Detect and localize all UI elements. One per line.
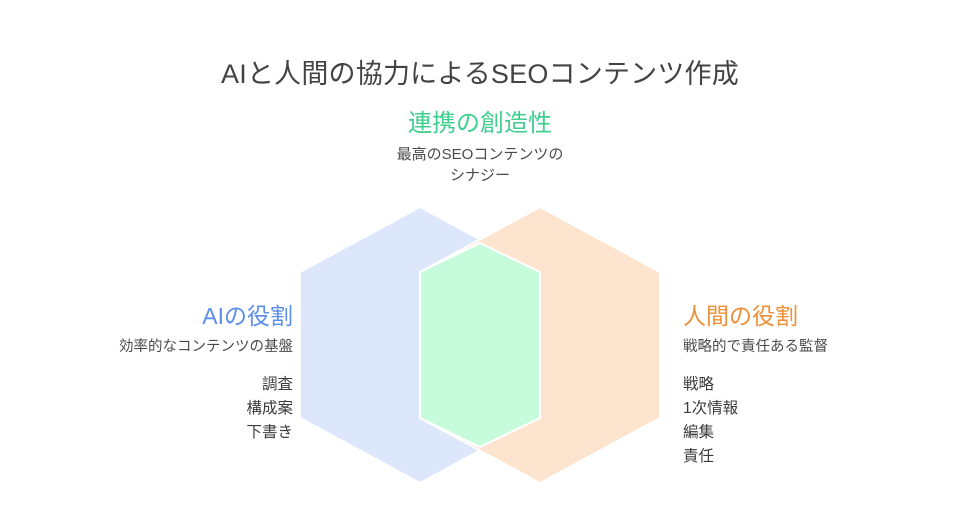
list-item: 下書き xyxy=(0,421,293,445)
overlap-hexagon-shape xyxy=(420,243,540,447)
diagram-canvas: AIと人間の協力によるSEOコンテンツ作成 連携の創造性 最高のSEOコンテンツ… xyxy=(0,0,960,532)
list-item: 編集 xyxy=(683,421,960,445)
overlap-subtitle-line-2: シナジー xyxy=(330,165,630,186)
list-item: 1次情報 xyxy=(683,397,960,421)
list-item: 責任 xyxy=(683,445,960,469)
overlap-heading: 連携の創造性 xyxy=(330,108,630,139)
left-label-group: AIの役割 効率的なコンテンツの基盤 調査 構成案 下書き xyxy=(0,302,293,461)
list-item: 構成案 xyxy=(0,397,293,421)
overlap-subtitle-line-1: 最高のSEOコンテンツの xyxy=(330,144,630,165)
right-item-list: 戦略 1次情報 編集 責任 xyxy=(683,373,960,469)
left-item-list: 調査 構成案 下書き xyxy=(0,373,293,445)
right-label-group: 人間の役割 戦略的で責任ある監督 戦略 1次情報 編集 責任 xyxy=(683,302,960,485)
list-item: 戦略 xyxy=(683,373,960,397)
left-subtitle: 効率的なコンテンツの基盤 xyxy=(0,337,293,357)
left-heading: AIの役割 xyxy=(0,302,293,331)
right-heading: 人間の役割 xyxy=(683,302,960,331)
overlap-subtitle: 最高のSEOコンテンツの シナジー xyxy=(330,144,630,187)
right-subtitle: 戦略的で責任ある監督 xyxy=(683,337,960,357)
overlap-label-group: 連携の創造性 最高のSEOコンテンツの シナジー xyxy=(330,108,630,187)
list-item: 調査 xyxy=(0,373,293,397)
